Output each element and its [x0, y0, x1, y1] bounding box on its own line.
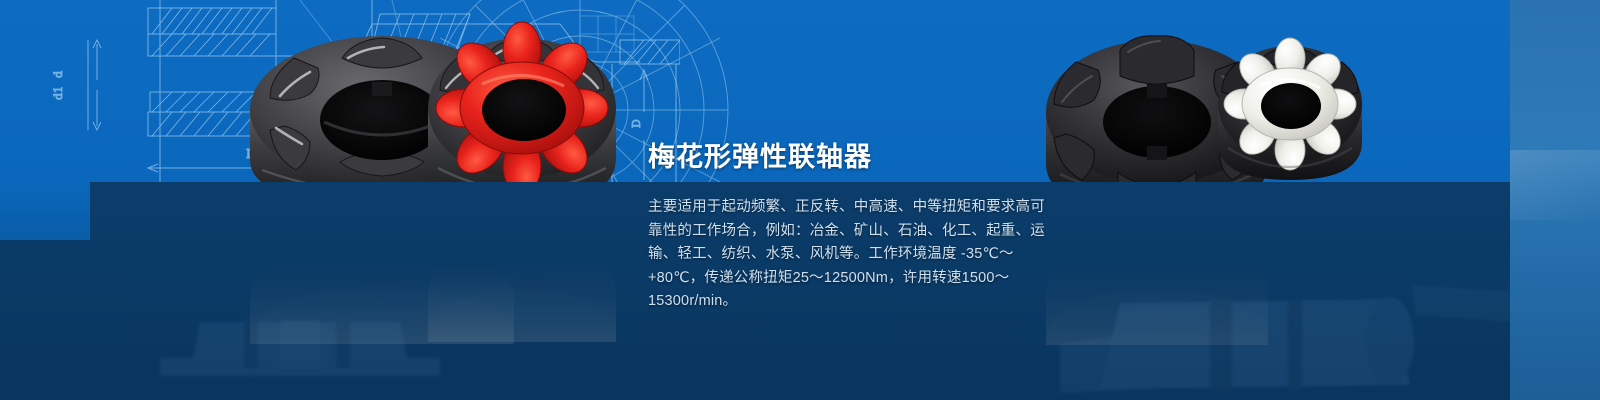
product-jaw-coupling-white-spider — [1208, 30, 1373, 190]
machinery-silhouette-left — [140, 300, 460, 400]
page-title: 梅花形弹性联轴器 — [648, 140, 1048, 174]
right-panel-highlight — [1510, 150, 1600, 220]
machinery-silhouette-right — [1060, 285, 1530, 400]
banner-copy: 梅花形弹性联轴器 主要适用于起动频繁、正反转、中高速、中等扭矩和要求高可靠性的工… — [648, 140, 1048, 314]
banner-description: 主要适用于起动频繁、正反转、中高速、中等扭矩和要求高可靠性的工作场合，例如：冶金… — [648, 196, 1048, 314]
product-banner: d d1 — [0, 0, 1600, 400]
svg-text:d1: d1 — [52, 86, 65, 100]
svg-text:d: d — [52, 71, 65, 78]
